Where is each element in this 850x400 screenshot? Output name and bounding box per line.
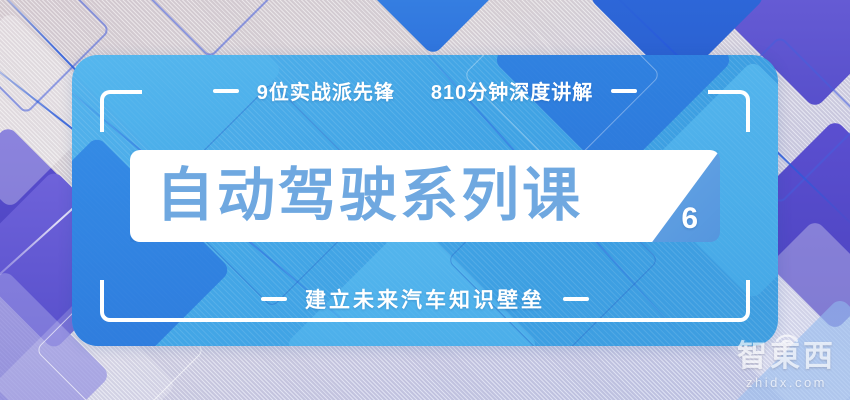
watermark-brand-cn: 智東西 [737,342,836,372]
episode-number-badge: 6 [681,204,698,234]
bottom-subtitle-text: 建立未来汽车知识壁垒 [305,284,545,314]
page-title: 自动驾驶系列课 [156,167,583,225]
watermark-brand-en: zhidx.com [737,375,836,390]
top-subtitle-item-1: 9位实战派先锋 [257,76,395,105]
dash-left-icon [213,89,239,93]
course-banner: 9位实战派先锋 810分钟深度讲解 自动驾驶系列课 6 建立未来汽车知识壁垒 智… [0,0,850,400]
wifi-signal-icon [774,331,800,344]
top-subtitle-text: 9位实战派先锋 810分钟深度讲解 [257,76,594,105]
watermark-logo: 智東西 zhidx.com [737,342,836,390]
frame-rule-bottom [142,318,708,322]
dash-bottom-left-icon [261,297,287,301]
dash-right-icon [611,89,637,93]
dash-bottom-right-icon [563,297,589,301]
top-subtitle-row: 9位实战派先锋 810分钟深度讲解 [0,76,850,105]
top-subtitle-item-2: 810分钟深度讲解 [431,76,593,105]
title-card: 自动驾驶系列课 6 [130,150,720,242]
bottom-subtitle-row: 建立未来汽车知识壁垒 [0,284,850,314]
